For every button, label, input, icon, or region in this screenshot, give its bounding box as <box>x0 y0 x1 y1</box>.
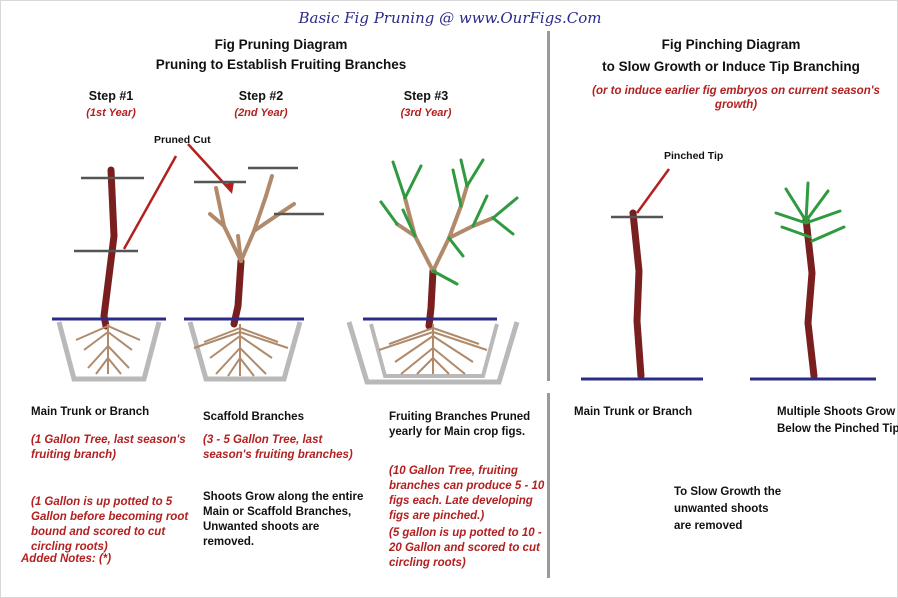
pinch-left-caption: Main Trunk or Branch <box>574 405 744 420</box>
step1-note-1: (1 Gallon Tree, last season's fruiting b… <box>31 433 191 463</box>
pinch-right-drawing <box>736 161 886 391</box>
pinch-footer-line3: are removed <box>674 519 874 534</box>
panel-divider-lower <box>547 393 550 578</box>
left-panel-heading-line2: Pruning to Establish Fruiting Branches <box>51 57 511 72</box>
step2-subtitle: (2nd Year) <box>191 107 331 119</box>
step3-caption: Fruiting Branches Pruned yearly for Main… <box>389 410 541 440</box>
step3-subtitle: (3rd Year) <box>356 107 496 119</box>
pinch-right-caption-line2: Below the Pinched Tip <box>777 422 898 437</box>
panel-divider <box>547 31 550 381</box>
step2-note-1: (3 - 5 Gallon Tree, last season's fruiti… <box>203 433 363 463</box>
step3-note-2: (5 gallon is up potted to 10 - 20 Gallon… <box>389 526 547 571</box>
pinch-right-caption-line1: Multiple Shoots Grow <box>777 405 898 420</box>
step1-drawing <box>26 136 196 386</box>
right-panel-subheading: (or to induce earlier fig embryos on cur… <box>591 84 881 112</box>
step1-title: Step #1 <box>41 89 181 103</box>
step1-note-2: (1 Gallon is up potted to 5 Gallon befor… <box>31 495 194 555</box>
pinch-left-drawing <box>571 161 711 391</box>
step3-title: Step #3 <box>356 89 496 103</box>
left-panel-heading-line1: Fig Pruning Diagram <box>81 37 481 52</box>
step1-caption: Main Trunk or Branch <box>31 405 196 420</box>
step2-title: Step #2 <box>191 89 331 103</box>
step3-note-1: (10 Gallon Tree, fruiting branches can p… <box>389 464 547 524</box>
diagram-page: Basic Fig Pruning @ www.OurFigs.Com Fig … <box>0 0 898 598</box>
right-panel-heading-line1: Fig Pinching Diagram <box>571 37 891 52</box>
step2-note-2: Shoots Grow along the entire Main or Sca… <box>203 490 369 550</box>
pinch-footer-line1: To Slow Growth the <box>674 485 874 500</box>
step2-drawing <box>176 136 361 386</box>
step3-drawing <box>341 136 541 386</box>
step1-subtitle: (1st Year) <box>41 107 181 119</box>
step2-caption: Scaffold Branches <box>203 410 373 425</box>
page-title: Basic Fig Pruning @ www.OurFigs.Com <box>1 9 898 27</box>
right-panel-heading-line2: to Slow Growth or Induce Tip Branching <box>561 59 898 74</box>
pinch-footer-line2: unwanted shoots <box>674 502 874 517</box>
added-notes: Added Notes: (*) <box>21 552 221 567</box>
